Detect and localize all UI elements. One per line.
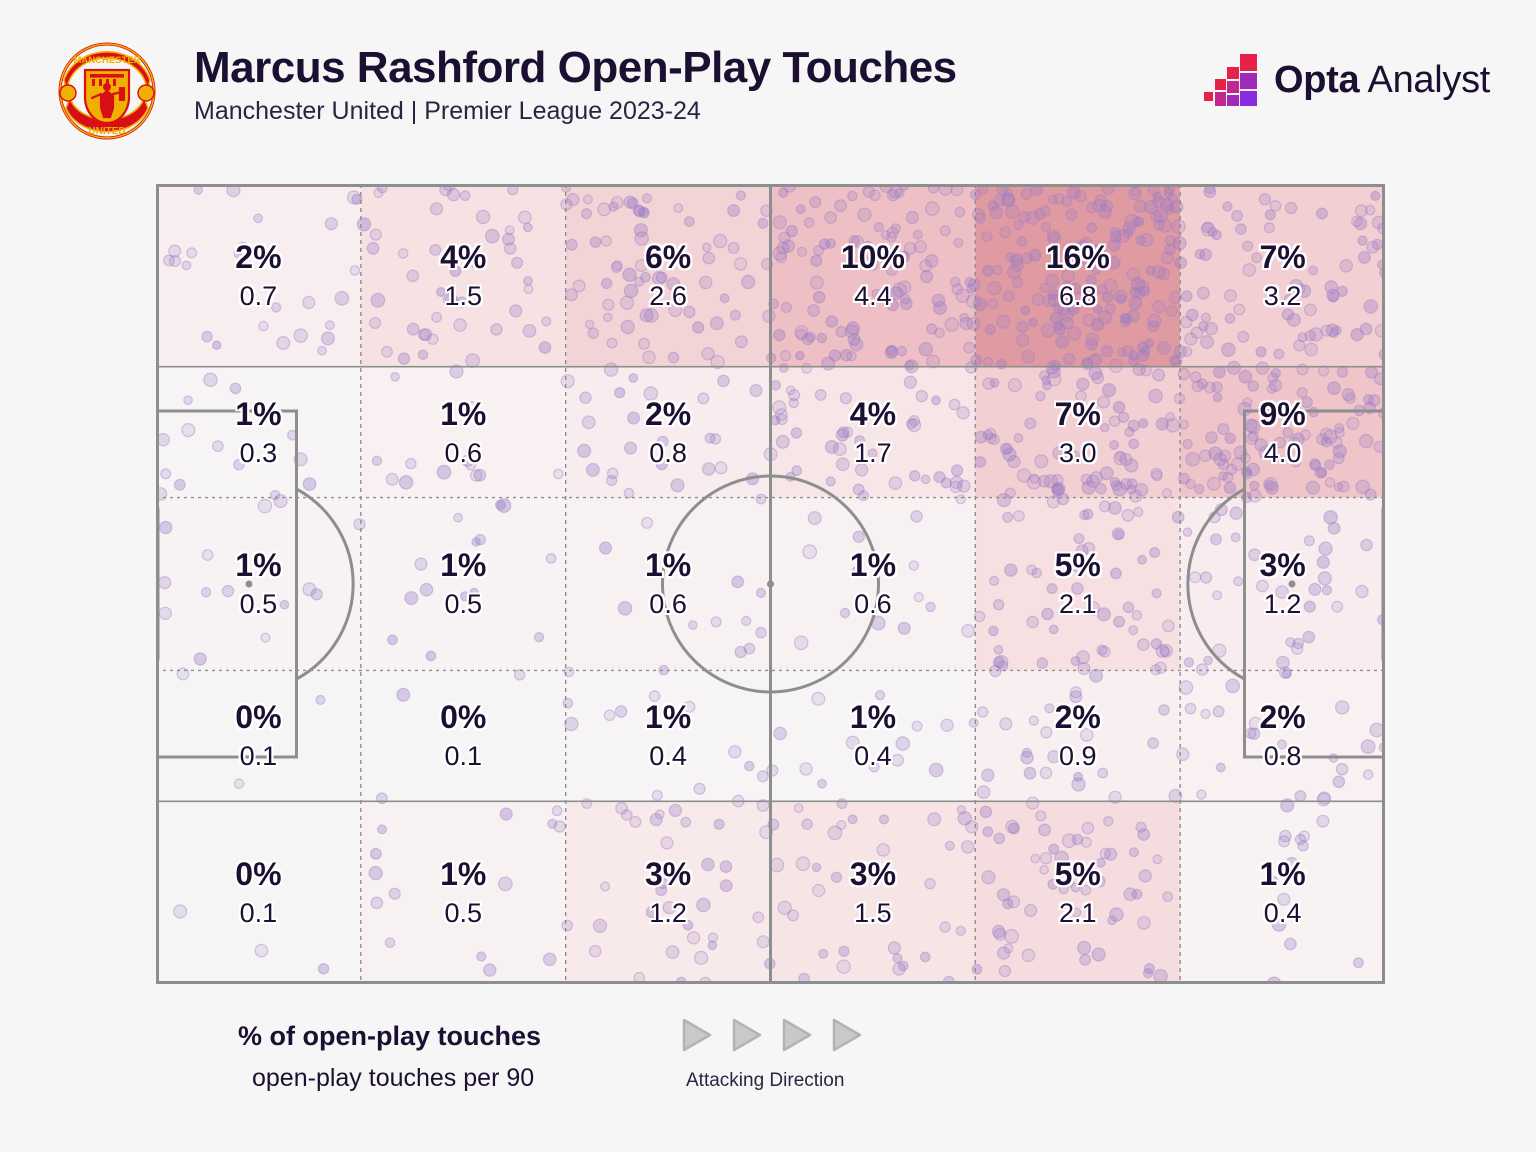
attacking-direction-arrows (680, 1016, 940, 1054)
crest-top-text: MANCHESTER (73, 55, 140, 66)
zone-per90: 0.4 (854, 743, 892, 770)
zone-cell[interactable]: 5%2.1 (975, 801, 1180, 984)
zone-cell[interactable]: 2%0.7 (156, 184, 361, 367)
zone-per90: 0.6 (649, 591, 687, 618)
manchester-united-crest-icon: MANCHESTER UNITED (54, 36, 160, 146)
attacking-direction-block: Attacking Direction (680, 1016, 940, 1092)
zone-percent: 1% (235, 549, 281, 581)
zone-percent: 3% (1259, 549, 1305, 581)
legend-secondary-label: open-play touches per 90 (252, 1065, 541, 1093)
zone-cell[interactable]: 3%1.2 (566, 801, 771, 984)
attacking-direction-label: Attacking Direction (686, 1070, 940, 1092)
zone-per90: 4.0 (1264, 440, 1302, 467)
zone-per90: 0.8 (649, 440, 687, 467)
zone-percent: 1% (440, 549, 486, 581)
zone-per90: 0.4 (649, 743, 687, 770)
pitch-heatmap: 2%0.74%1.56%2.610%4.416%6.87%3.21%0.31%0… (156, 184, 1385, 984)
zone-cell[interactable]: 0%0.1 (156, 801, 361, 984)
opta-wordmark: Opta Analyst (1274, 59, 1490, 102)
zone-cell[interactable]: 0%0.1 (361, 670, 566, 801)
zone-percent: 2% (645, 398, 691, 430)
zone-per90: 1.2 (649, 900, 687, 927)
zone-percent: 4% (440, 241, 486, 273)
zone-cell[interactable]: 1%0.5 (156, 498, 361, 671)
zone-per90: 1.5 (444, 283, 482, 310)
zone-per90: 0.5 (444, 900, 482, 927)
zone-percent: 1% (645, 701, 691, 733)
zone-percent: 5% (1055, 858, 1101, 890)
zone-per90: 1.5 (854, 900, 892, 927)
zone-percent: 5% (1055, 549, 1101, 581)
zone-per90: 1.7 (854, 440, 892, 467)
zone-cell[interactable]: 1%0.5 (361, 801, 566, 984)
zone-per90: 0.6 (444, 440, 482, 467)
zone-cell[interactable]: 1%0.6 (770, 498, 975, 671)
zone-percent: 9% (1259, 398, 1305, 430)
zone-cell[interactable]: 1%0.3 (156, 367, 361, 498)
zone-cell[interactable]: 7%3.2 (1180, 184, 1385, 367)
zone-cell[interactable]: 4%1.7 (770, 367, 975, 498)
zone-percent: 10% (841, 241, 905, 273)
zone-per90: 0.4 (1264, 900, 1302, 927)
zone-cell[interactable]: 16%6.8 (975, 184, 1180, 367)
zone-cell[interactable]: 2%0.9 (975, 670, 1180, 801)
zone-percent: 3% (850, 858, 896, 890)
zone-percent: 1% (440, 398, 486, 430)
zone-percent: 0% (440, 701, 486, 733)
zone-per90: 6.8 (1059, 283, 1097, 310)
zone-percent: 7% (1055, 398, 1101, 430)
zone-percent: 2% (235, 241, 281, 273)
zone-percent: 2% (1055, 701, 1101, 733)
zone-per90: 3.0 (1059, 440, 1097, 467)
zone-cell[interactable]: 3%1.2 (1180, 498, 1385, 671)
zone-percent: 16% (1046, 241, 1110, 273)
opta-word: Opta (1274, 59, 1359, 101)
zone-cell[interactable]: 1%0.6 (361, 367, 566, 498)
zone-per90: 0.7 (240, 283, 278, 310)
zone-per90: 0.3 (240, 440, 278, 467)
zone-percent: 1% (850, 701, 896, 733)
opta-analyst-logo: Opta Analyst (1202, 52, 1490, 108)
zone-cell[interactable]: 6%2.6 (566, 184, 771, 367)
zone-per90: 0.5 (444, 591, 482, 618)
zone-percent: 1% (645, 549, 691, 581)
zone-cell[interactable]: 5%2.1 (975, 498, 1180, 671)
zone-per90: 2.1 (1059, 900, 1097, 927)
zone-percent: 2% (1259, 701, 1305, 733)
zone-per90: 4.4 (854, 283, 892, 310)
legend-primary-label: % of open-play touches (238, 1022, 541, 1052)
zone-percent: 7% (1259, 241, 1305, 273)
zone-cell[interactable]: 0%0.1 (156, 670, 361, 801)
zone-cell[interactable]: 1%0.4 (566, 670, 771, 801)
zone-per90: 1.2 (1264, 591, 1302, 618)
zone-per90: 0.1 (240, 743, 278, 770)
zone-per90: 2.6 (649, 283, 687, 310)
zone-cell[interactable]: 3%1.5 (770, 801, 975, 984)
zone-cell[interactable]: 2%0.8 (1180, 670, 1385, 801)
footer-legend: % of open-play touches open-play touches… (0, 1000, 1536, 1140)
zone-percent: 3% (645, 858, 691, 890)
zone-percent: 1% (1259, 858, 1305, 890)
zone-cell[interactable]: 1%0.6 (566, 498, 771, 671)
zone-cell[interactable]: 10%4.4 (770, 184, 975, 367)
zone-per90: 2.1 (1059, 591, 1097, 618)
page-title: Marcus Rashford Open-Play Touches (194, 44, 957, 92)
zone-cell[interactable]: 9%4.0 (1180, 367, 1385, 498)
zone-cell[interactable]: 2%0.8 (566, 367, 771, 498)
opta-staircase-mark-icon (1202, 52, 1260, 108)
title-block: Marcus Rashford Open-Play Touches Manche… (194, 44, 957, 125)
zone-value-grid: 2%0.74%1.56%2.610%4.416%6.87%3.21%0.31%0… (156, 184, 1385, 984)
zone-cell[interactable]: 4%1.5 (361, 184, 566, 367)
zone-percent: 0% (235, 858, 281, 890)
zone-per90: 3.2 (1264, 283, 1302, 310)
zone-percent: 0% (235, 701, 281, 733)
zone-cell[interactable]: 1%0.5 (361, 498, 566, 671)
legend-text-block: % of open-play touches open-play touches… (238, 1022, 541, 1092)
zone-cell[interactable]: 1%0.4 (1180, 801, 1385, 984)
zone-per90: 0.5 (240, 591, 278, 618)
zone-percent: 6% (645, 241, 691, 273)
zone-cell[interactable]: 1%0.4 (770, 670, 975, 801)
zone-per90: 0.6 (854, 591, 892, 618)
zone-per90: 0.9 (1059, 743, 1097, 770)
zone-percent: 1% (440, 858, 486, 890)
zone-percent: 1% (850, 549, 896, 581)
zone-percent: 1% (235, 398, 281, 430)
zone-per90: 0.1 (444, 743, 482, 770)
zone-percent: 4% (850, 398, 896, 430)
play-triangle-arrow-icon (780, 1016, 814, 1054)
header: MANCHESTER UNITED Marcus Rashford Open-P… (0, 0, 1536, 180)
play-triangle-arrow-icon (830, 1016, 864, 1054)
play-triangle-arrow-icon (680, 1016, 714, 1054)
crest-bottom-text: UNITED (88, 126, 125, 137)
zone-per90: 0.8 (1264, 743, 1302, 770)
page-subtitle: Manchester United | Premier League 2023-… (194, 98, 957, 126)
play-triangle-arrow-icon (730, 1016, 764, 1054)
zone-per90: 0.1 (240, 900, 278, 927)
analyst-word: Analyst (1359, 59, 1490, 101)
zone-cell[interactable]: 7%3.0 (975, 367, 1180, 498)
